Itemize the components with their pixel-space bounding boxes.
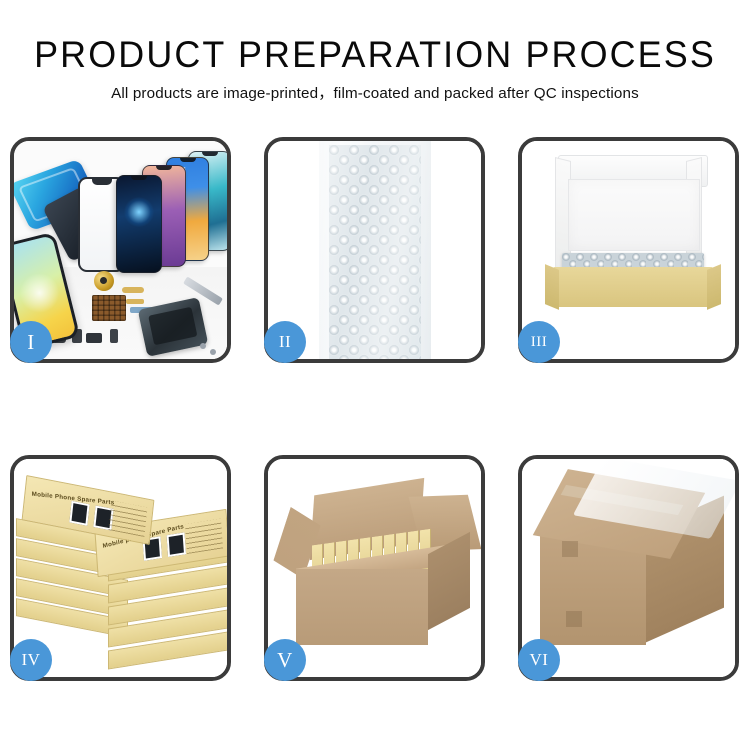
page-subtitle: All products are image-printed，film-coat… [0,84,750,104]
kraft-box-base-icon [553,267,713,307]
process-step-panel-3: III [518,137,739,363]
process-step-grid: I II III [10,137,740,681]
process-step-panel-6: VI [518,455,739,681]
step-badge-1: I [10,321,52,363]
notch-icon [156,166,172,170]
process-step-panel-2: II [264,137,485,363]
retail-box-stack: Mobile phone Spare Parts Mobile Phone Sp… [16,477,227,673]
carton-handle-tab-icon [562,541,578,557]
box-checklist-lines [108,501,147,537]
page-header: PRODUCT PREPARATION PROCESS All products… [0,0,750,104]
notch-icon [202,152,218,156]
part-speaker-coil-icon [94,271,114,291]
process-step-panel-4: Mobile phone Spare Parts Mobile Phone Sp… [10,455,231,681]
carton-front-wall-icon [296,569,428,645]
box-checklist-lines [185,519,223,554]
part-screw-icon [210,349,216,355]
page-title: PRODUCT PREPARATION PROCESS [11,33,739,77]
process-step-panel-5: V [264,455,485,681]
step-badge-5: V [264,639,306,681]
step-badge-3: III [518,321,560,363]
part-chip-grid-icon [92,295,126,321]
foam-padding-icon [568,179,700,251]
box-window-icon [69,501,89,526]
part-flex-cable-icon [126,299,144,304]
plastic-sheen-overlay [319,141,431,359]
notch-icon [131,176,147,180]
step-badge-6: VI [518,639,560,681]
process-step-panel-1: I [10,137,231,363]
phone-dark-blue-icon [116,175,162,273]
part-screw-icon [200,343,206,349]
carton-handle-tab-icon [566,611,582,627]
part-flex-cable-icon [122,287,144,293]
part-module-icon [86,333,102,343]
step-badge-2: II [264,321,306,363]
box-window-icon [167,532,187,557]
part-sensor-icon [110,329,118,343]
step-badge-4: IV [10,639,52,681]
notch-icon [180,158,196,162]
